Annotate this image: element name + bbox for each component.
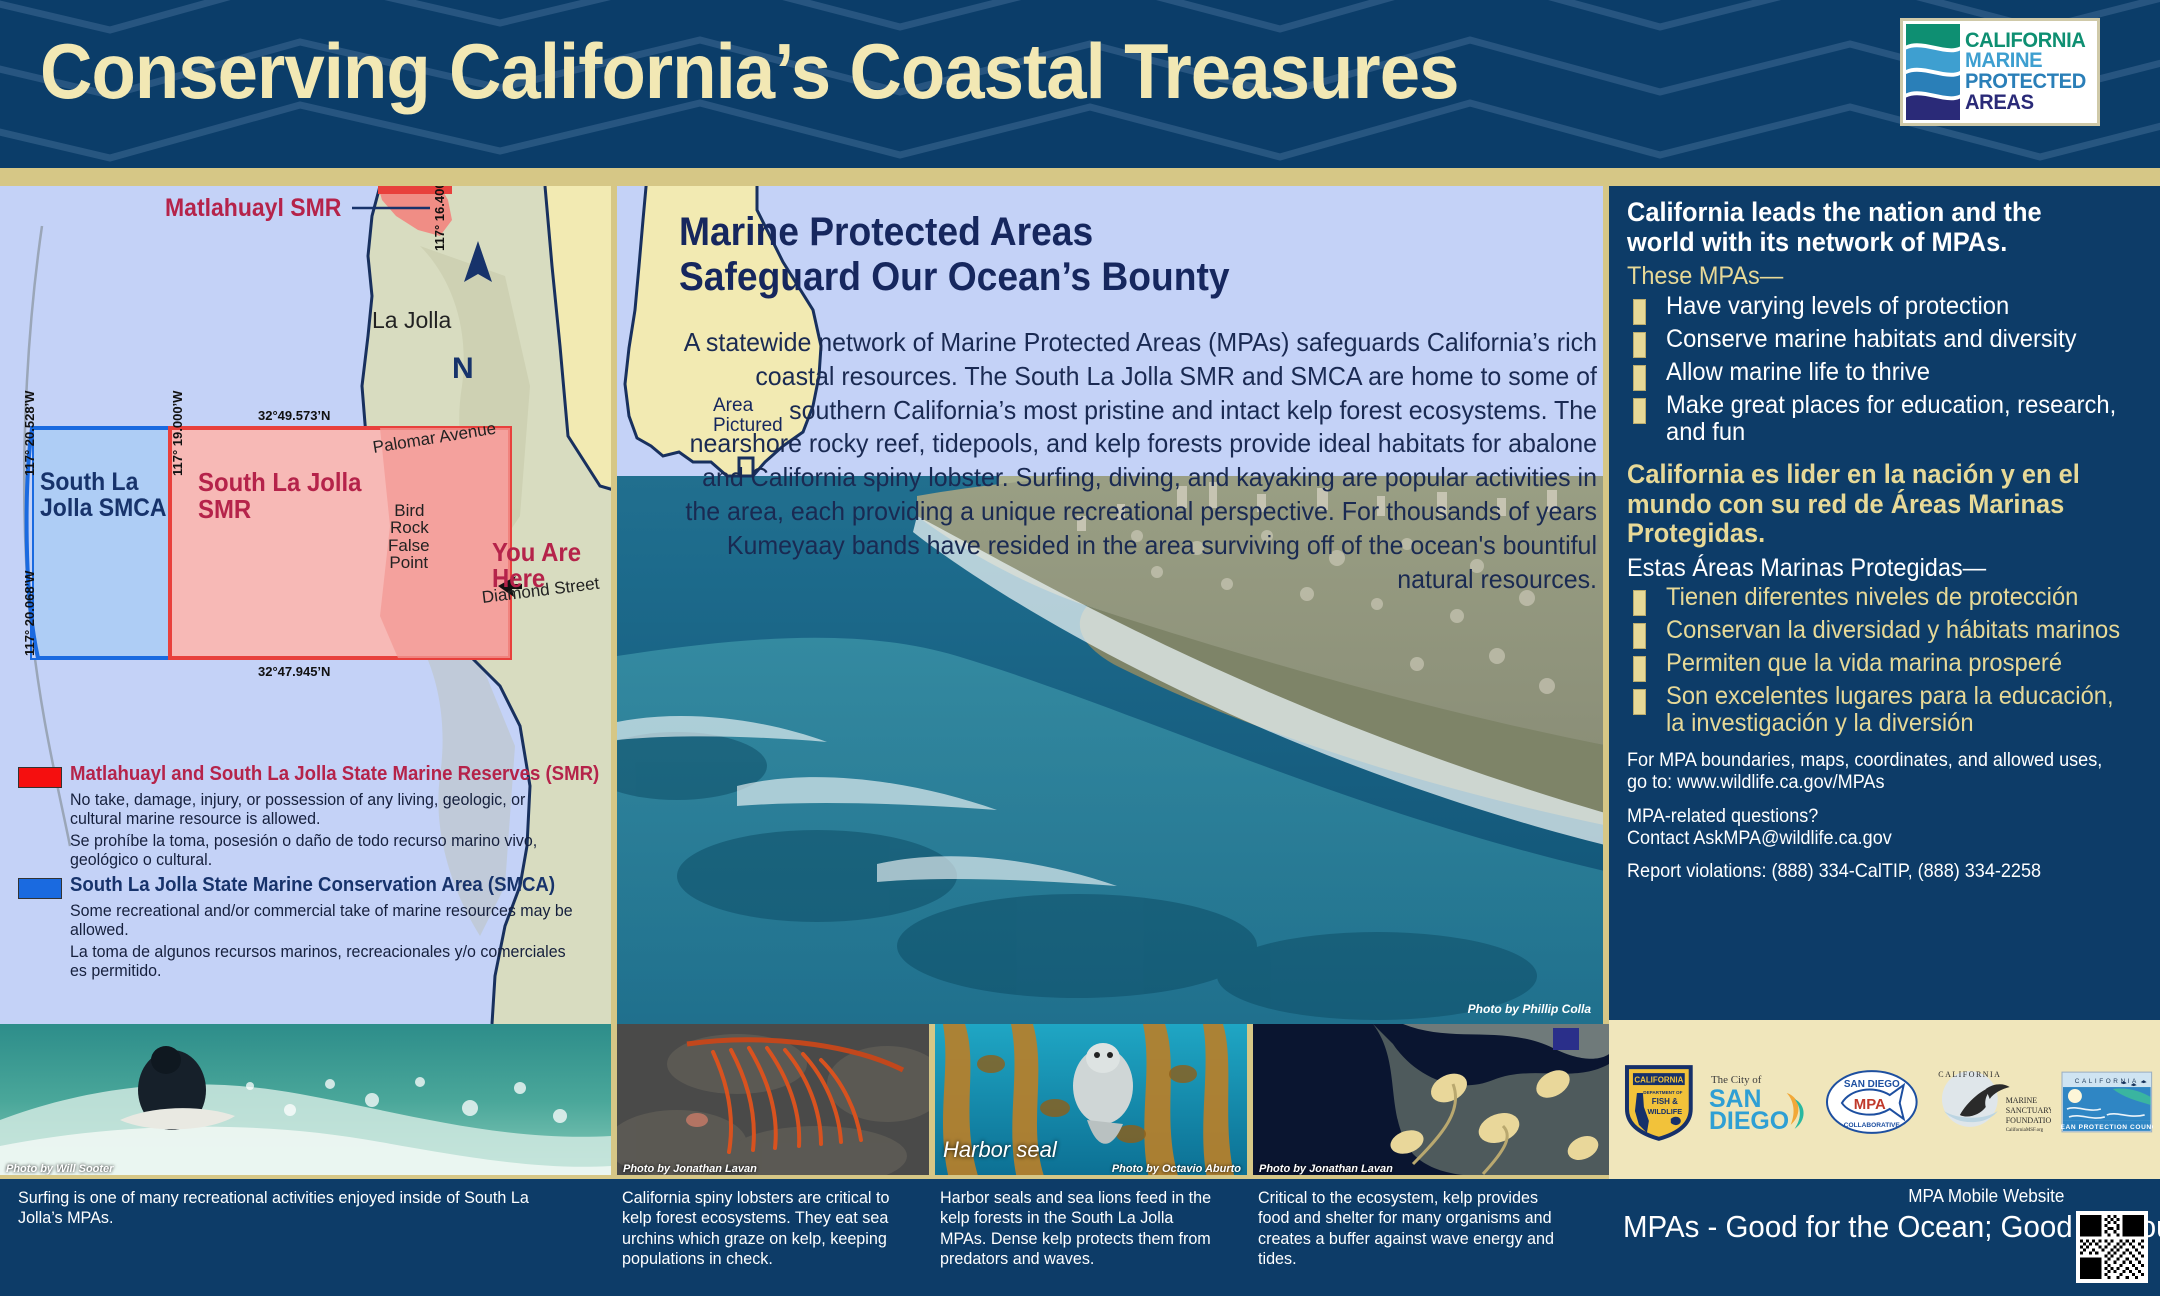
svg-text:CALIFORNIA: CALIFORNIA (1938, 1070, 2001, 1079)
list-item: Tienen diferentes niveles de protección (1627, 584, 2144, 616)
right-subhead-english: These MPAs— (1627, 263, 2113, 291)
legend-smca-english: Some recreational and/or commercial take… (70, 901, 576, 939)
bullet-square-icon (1633, 332, 1646, 358)
poster-header: Conserving California’s Coastal Treasure… (0, 0, 2160, 168)
caption-band: Surfing is one of many recreational acti… (0, 1179, 1609, 1296)
map-label-south-la-jolla-smr: South La Jolla SMR (198, 469, 361, 524)
legend-title-smr: Matlahuayl and South La Jolla State Mari… (70, 764, 599, 786)
legend-swatch-blue (18, 878, 62, 899)
map-legend: Matlahuayl and South La Jolla State Mari… (18, 764, 608, 983)
map-label-false-point: False Point (388, 537, 430, 571)
legend-row-smca: South La Jolla State Marine Conservation… (18, 875, 608, 899)
svg-text:SAN DIEGO: SAN DIEGO (1844, 1079, 1900, 1090)
caption-lobster: California spiny lobsters are critical t… (622, 1188, 907, 1270)
bullet-text: Conservan la diversidad y hábitats marin… (1666, 617, 2120, 644)
coord-lon-bottom-left: 117° 20.068’W (22, 571, 37, 656)
map-label-south-la-jolla-smca: South La Jolla SMCA (40, 469, 167, 522)
map-label-matlahuayl-smr: Matlahuayl SMR (165, 194, 341, 223)
partner-logo-band: CALIFORNIA DEPARTMENT OF FISH & WILDLIFE… (1609, 1020, 2160, 1179)
logo-line-2: MARINE (1965, 51, 2089, 72)
photo-credit: Photo by Octavio Aburto (1112, 1163, 1241, 1175)
list-item: Permiten que la vida marina prosperé (1627, 650, 2144, 682)
photo-harbor-seal: Harbor seal Photo by Octavio Aburto (935, 1024, 1247, 1179)
svg-text:CALIFORNIA: CALIFORNIA (1634, 1076, 1683, 1085)
mpa-mobile-website-label: MPA Mobile Website (1908, 1186, 2064, 1207)
svg-text:WILDLIFE: WILDLIFE (1647, 1107, 1682, 1116)
list-item: Allow marine life to thrive (1627, 359, 2144, 391)
page-title: Conserving California’s Coastal Treasure… (40, 26, 1459, 117)
right-subhead-spanish: Estas Áreas Marinas Protegidas— (1627, 555, 2113, 583)
coord-lat-north: 32°49.573’N (258, 408, 330, 423)
bullet-text: Permiten que la vida marina prosperé (1666, 650, 2062, 677)
center-body-text: A statewide network of Marine Protected … (673, 326, 1597, 596)
photo-divider (1247, 1024, 1253, 1179)
coord-lat-south: 32°47.945’N (258, 664, 330, 679)
coord-lon-west-outer: 117° 20.528’W (22, 391, 37, 476)
photo-credit: Photo by Jonathan Lavan (623, 1163, 757, 1175)
legend-smr-english: No take, damage, injury, or possession o… (70, 790, 576, 828)
right-bullets-spanish: Tienen diferentes niveles de protección … (1627, 584, 2144, 737)
bottom-strip: Photo by Will Sooter Photo by Jonat (0, 1024, 2160, 1296)
bullet-square-icon (1633, 623, 1646, 649)
bullet-square-icon (1633, 590, 1646, 616)
bullet-text: Make great places for education, researc… (1666, 392, 2120, 446)
photo-lobster-art (617, 1024, 929, 1179)
list-item: Conserve marine habitats and diversity (1627, 326, 2144, 358)
legend-smr-spanish: Se prohíbe la toma, posesión o daño de t… (70, 831, 576, 869)
list-item: Make great places for education, researc… (1627, 392, 2144, 446)
svg-text:CALIFORNIA: CALIFORNIA (2075, 1078, 2139, 1085)
photo-divider (929, 1024, 935, 1179)
caption-surfer: Surfing is one of many recreational acti… (18, 1188, 569, 1229)
legend-body-smr: No take, damage, injury, or possession o… (70, 790, 576, 869)
tagline-band: MPA Mobile Website MPAs - Good for the O… (1609, 1179, 2160, 1296)
map-label-bird-rock: Bird Rock (390, 502, 429, 536)
poster-root: Conserving California’s Coastal Treasure… (0, 0, 2160, 1296)
center-heading: Marine Protected Areas Safeguard Our Oce… (679, 210, 1230, 300)
legend-body-smca: Some recreational and/or commercial take… (70, 901, 576, 980)
bullet-text: Tienen diferentes niveles de protección (1666, 584, 2078, 611)
map-label-la-jolla: La Jolla (372, 307, 451, 334)
california-mpa-logo: CALIFORNIA MARINE PROTECTED AREAS (1900, 18, 2100, 126)
svg-text:COLLABORATIVE: COLLABORATIVE (1844, 1122, 1901, 1129)
logo-line-4: AREAS (1965, 93, 2089, 114)
svg-text:DEPARTMENT OF: DEPARTMENT OF (1643, 1090, 1682, 1095)
photo-kelp-closeup: Photo by Jonathan Lavan (1253, 1024, 1609, 1179)
caption-kelp: Critical to the ecosystem, kelp provides… (1258, 1188, 1572, 1270)
logo-wordmark: CALIFORNIA MARINE PROTECTED AREAS (1960, 24, 2094, 120)
logo-wave-bars-icon (1906, 24, 1960, 120)
contact-line-violations: Report violations: (888) 334-CalTIP, (88… (1627, 861, 2118, 883)
right-bullets-english: Have varying levels of protection Conser… (1627, 293, 2144, 446)
header-divider-bar (0, 168, 2160, 186)
bullet-square-icon (1633, 299, 1646, 325)
center-panel: Area Pictured Marine Protected Areas Saf… (617, 186, 1609, 1024)
qr-code[interactable] (2076, 1211, 2148, 1283)
coord-lon-east: 117° 16.400’W (432, 186, 447, 251)
photo-spiny-lobster: Photo by Jonathan Lavan (617, 1024, 929, 1179)
california-ocean-protection-council-logo: CALIFORNIA OCEAN PROTECTION COUNCIL (2061, 1071, 2153, 1133)
city-of-san-diego-logo: The City of SAN DIEGO (1705, 1069, 1815, 1135)
qr-code-icon (2080, 1215, 2144, 1279)
bullet-text: Have varying levels of protection (1666, 293, 2009, 320)
photo-kelp-art (1253, 1024, 1609, 1179)
bullet-square-icon (1633, 365, 1646, 391)
legend-title-smca: South La Jolla State Marine Conservation… (70, 875, 570, 897)
photo-surfer-art (0, 1024, 611, 1179)
map-label-north: N (452, 352, 474, 386)
photo-surfer: Photo by Will Sooter (0, 1024, 611, 1179)
bullet-square-icon (1633, 689, 1646, 715)
bullet-text: Son excelentes lugares para la educación… (1666, 683, 2120, 737)
svg-text:FOUNDATION: FOUNDATION (2006, 1116, 2052, 1125)
caption-harbor-seal: Harbor seals and sea lions feed in the k… (940, 1188, 1223, 1270)
california-marine-sanctuary-foundation-logo: CALIFORNIA MARINE SANCTUARY FOUNDATION C… (1930, 1067, 2052, 1137)
mpa-map: 117° 20.528’W 117° 19.000’W 117° 16.400’… (0, 186, 617, 1024)
bullet-square-icon (1633, 656, 1646, 682)
partner-logo-row: CALIFORNIA DEPARTMENT OF FISH & WILDLIFE… (1623, 1062, 2153, 1142)
photo-credit: Photo by Jonathan Lavan (1259, 1163, 1393, 1175)
svg-text:MPA: MPA (1854, 1096, 1886, 1113)
right-heading-spanish: California es lider en la nación y en el… (1627, 460, 2113, 549)
svg-text:MARINE: MARINE (2006, 1096, 2038, 1105)
legend-row-smr: Matlahuayl and South La Jolla State Mari… (18, 764, 608, 788)
photo-bottom-divider (0, 1175, 1609, 1179)
cdfw-logo: CALIFORNIA DEPARTMENT OF FISH & WILDLIFE (1623, 1063, 1695, 1141)
photo-credit-aerial: Photo by Phillip Colla (1468, 1002, 1591, 1016)
bullet-text: Allow marine life to thrive (1666, 359, 1930, 386)
photo-label-harbor-seal: Harbor seal (943, 1137, 1057, 1163)
contact-block: For MPA boundaries, maps, coordinates, a… (1627, 750, 2118, 882)
bullet-square-icon (1633, 398, 1646, 424)
list-item: Conservan la diversidad y hábitats marin… (1627, 617, 2144, 649)
photo-divider (611, 1024, 617, 1179)
svg-text:CaliforniaMSF.org: CaliforniaMSF.org (2006, 1128, 2044, 1133)
list-item: Have varying levels of protection (1627, 293, 2144, 325)
panel-divider-left (611, 186, 617, 1024)
legend-smca-spanish: La toma de algunos recursos marinos, rec… (70, 942, 576, 980)
right-heading-english: California leads the nation and the worl… (1627, 198, 2113, 257)
contact-line-website: For MPA boundaries, maps, coordinates, a… (1627, 750, 2118, 794)
coord-lon-west-inner: 117° 19.000’W (170, 391, 185, 476)
svg-text:OCEAN PROTECTION COUNCIL: OCEAN PROTECTION COUNCIL (2061, 1124, 2153, 1131)
logo-line-1: CALIFORNIA (1965, 31, 2089, 52)
panel-divider-right (1603, 186, 1609, 1024)
svg-text:SANCTUARY: SANCTUARY (2006, 1106, 2052, 1115)
logo-line-3: PROTECTED (1965, 72, 2089, 93)
list-item: Son excelentes lugares para la educación… (1627, 683, 2144, 737)
contact-line-questions: MPA-related questions? Contact AskMPA@wi… (1627, 806, 2118, 850)
san-diego-mpa-collaborative-logo: SAN DIEGO MPA COLLABORATIVE (1824, 1069, 1920, 1135)
svg-text:FISH &: FISH & (1652, 1097, 1678, 1106)
main-content: 117° 20.528’W 117° 19.000’W 117° 16.400’… (0, 186, 2160, 1024)
svg-text:DIEGO: DIEGO (1709, 1107, 1789, 1135)
bullet-text: Conserve marine habitats and diversity (1666, 326, 2077, 353)
photo-credit: Photo by Will Sooter (6, 1163, 113, 1175)
legend-swatch-red (18, 767, 62, 788)
info-panel: California leads the nation and the worl… (1609, 186, 2160, 1024)
